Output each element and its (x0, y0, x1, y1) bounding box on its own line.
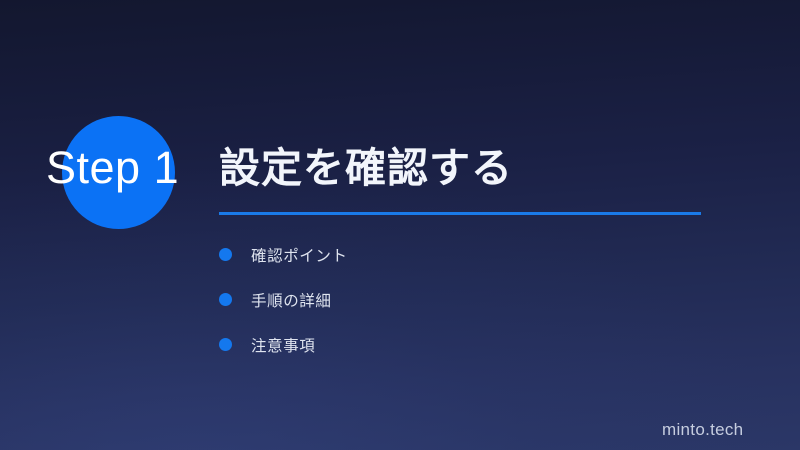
slide-title: 設定を確認する (219, 147, 513, 190)
bullet-dot-icon (219, 338, 232, 351)
list-item-label: 注意事項 (251, 334, 315, 356)
bullet-list: 確認ポイント 手順の詳細 注意事項 (219, 232, 679, 367)
list-item-label: 確認ポイント (251, 244, 348, 266)
list-item: 手順の詳細 (219, 277, 679, 322)
footer-watermark: minto.tech (662, 420, 743, 440)
list-item: 確認ポイント (219, 232, 679, 277)
slide-canvas: Step 1 設定を確認する 確認ポイント 手順の詳細 注意事項 minto.t… (0, 0, 800, 450)
step-badge-label: Step 1 (46, 145, 179, 190)
list-item-label: 手順の詳細 (251, 289, 332, 311)
title-divider (219, 212, 701, 215)
bullet-dot-icon (219, 293, 232, 306)
bullet-dot-icon (219, 248, 232, 261)
list-item: 注意事項 (219, 322, 679, 367)
